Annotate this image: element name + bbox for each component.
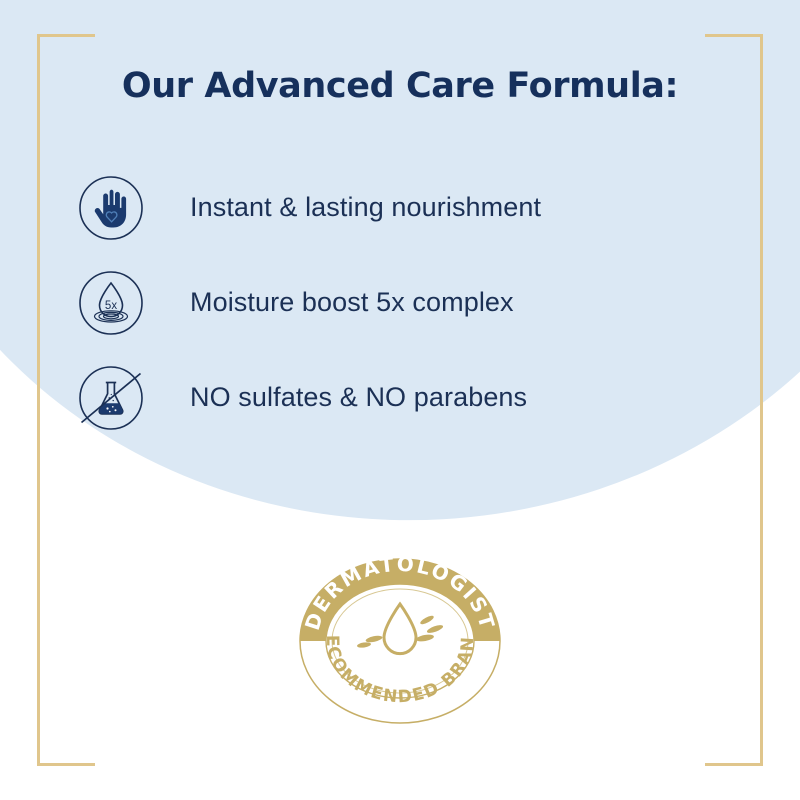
promo-graphic: Our Advanced Care Formula: Instant & las… xyxy=(0,0,800,800)
page-title: Our Advanced Care Formula: xyxy=(0,66,800,106)
bracket-vertical-line xyxy=(37,34,40,766)
drop-sparkle-dashes xyxy=(357,614,444,648)
hand-heart-icon xyxy=(78,175,144,241)
corner-bracket-bottom-right xyxy=(705,763,763,766)
feature-item-moisture: 5x Moisture boost 5x complex xyxy=(78,255,738,350)
feature-item-no-sulfates: NO sulfates & NO parabens xyxy=(78,350,738,445)
feature-label: Instant & lasting nourishment xyxy=(190,192,541,223)
feature-item-nourishment: Instant & lasting nourishment xyxy=(78,160,738,255)
drop-multiplier-text: 5x xyxy=(105,300,117,312)
feature-label: Moisture boost 5x complex xyxy=(190,287,514,318)
feature-label: NO sulfates & NO parabens xyxy=(190,382,527,413)
bracket-horizontal-line xyxy=(705,34,763,37)
water-drop-5x-icon: 5x xyxy=(78,270,144,336)
bracket-vertical-line xyxy=(760,34,763,766)
corner-bracket-bottom-left xyxy=(37,763,95,766)
feature-list: Instant & lasting nourishment 5x Moistur… xyxy=(78,160,738,445)
dermatologist-recommended-badge: DERMATOLOGIST RECOMMENDED BRAND xyxy=(296,556,504,726)
bracket-horizontal-line xyxy=(37,34,95,37)
no-flask-icon xyxy=(78,365,144,431)
water-drop-icon xyxy=(357,604,444,654)
